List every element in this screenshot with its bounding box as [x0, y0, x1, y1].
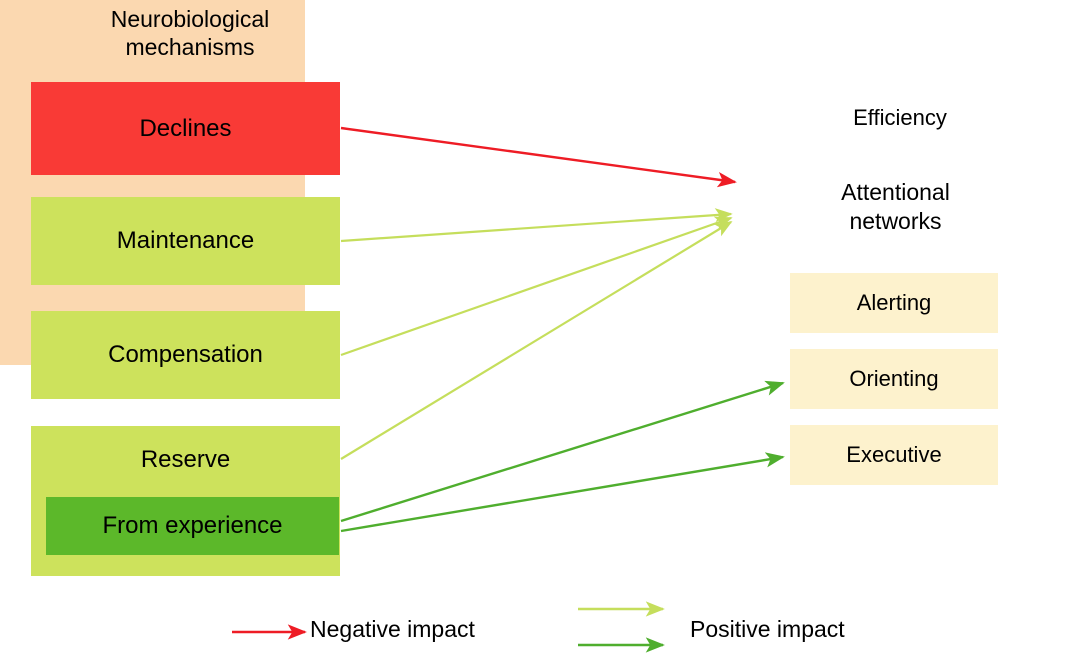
edge-from-experience-to-orienting	[341, 383, 783, 521]
node-orienting[interactable]: Orienting	[790, 349, 998, 409]
node-alerting[interactable]: Alerting	[790, 273, 998, 333]
edge-from-experience-to-executive	[341, 457, 783, 531]
legend-negative-label: Negative impact	[310, 616, 530, 644]
edge-declines-to-attentional-networks	[341, 128, 735, 182]
node-reserve-label: Reserve	[31, 446, 340, 474]
node-compensation[interactable]: Compensation	[31, 311, 340, 399]
diagram-canvas: Neurobiological mechanisms Efficiency De…	[0, 0, 1080, 672]
node-attentional-networks-label: Attentional networks	[743, 178, 1048, 236]
edge-maintenance-to-attentional-networks	[341, 214, 731, 241]
left-column-title: Neurobiological mechanisms	[60, 6, 320, 61]
edge-reserve-to-attentional-networks	[341, 222, 731, 459]
edge-compensation-to-attentional-networks	[341, 218, 731, 355]
node-declines[interactable]: Declines	[31, 82, 340, 175]
legend-positive-label: Positive impact	[690, 616, 920, 644]
node-from-experience[interactable]: From experience	[46, 497, 339, 555]
node-executive[interactable]: Executive	[790, 425, 998, 485]
right-column-title: Efficiency	[760, 105, 1040, 131]
node-maintenance[interactable]: Maintenance	[31, 197, 340, 285]
